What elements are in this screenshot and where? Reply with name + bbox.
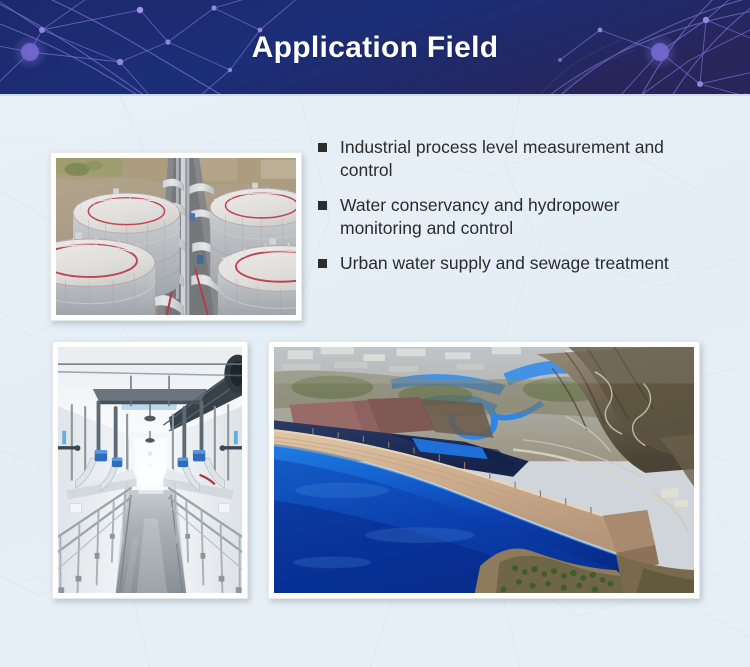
square-bullet-icon bbox=[318, 259, 327, 268]
application-bullet-list: Industrial process level measurement and… bbox=[318, 136, 718, 275]
list-item: Urban water supply and sewage treatment bbox=[318, 252, 718, 275]
storage-tanks-illustration bbox=[56, 158, 296, 315]
industrial-storage-tanks-photo bbox=[50, 152, 302, 321]
list-item: Water conservancy and hydropower monitor… bbox=[318, 194, 718, 240]
square-bullet-icon bbox=[318, 143, 327, 152]
square-bullet-icon bbox=[318, 201, 327, 210]
list-item-label: Urban water supply and sewage treatment bbox=[340, 252, 669, 275]
banner-underline bbox=[0, 94, 750, 96]
reservoir-dam-aerial-photo bbox=[268, 341, 700, 599]
header-banner: Application Field bbox=[0, 0, 750, 96]
reservoir-dam-illustration bbox=[274, 347, 694, 593]
water-treatment-corridor-photo bbox=[52, 341, 248, 599]
page-title: Application Field bbox=[0, 0, 750, 96]
list-item: Industrial process level measurement and… bbox=[318, 136, 718, 182]
list-item-label: Water conservancy and hydropower monitor… bbox=[340, 194, 702, 240]
list-item-label: Industrial process level measurement and… bbox=[340, 136, 702, 182]
slide-root: Application Field Industrial process lev… bbox=[0, 0, 750, 667]
treatment-corridor-illustration bbox=[58, 347, 242, 593]
